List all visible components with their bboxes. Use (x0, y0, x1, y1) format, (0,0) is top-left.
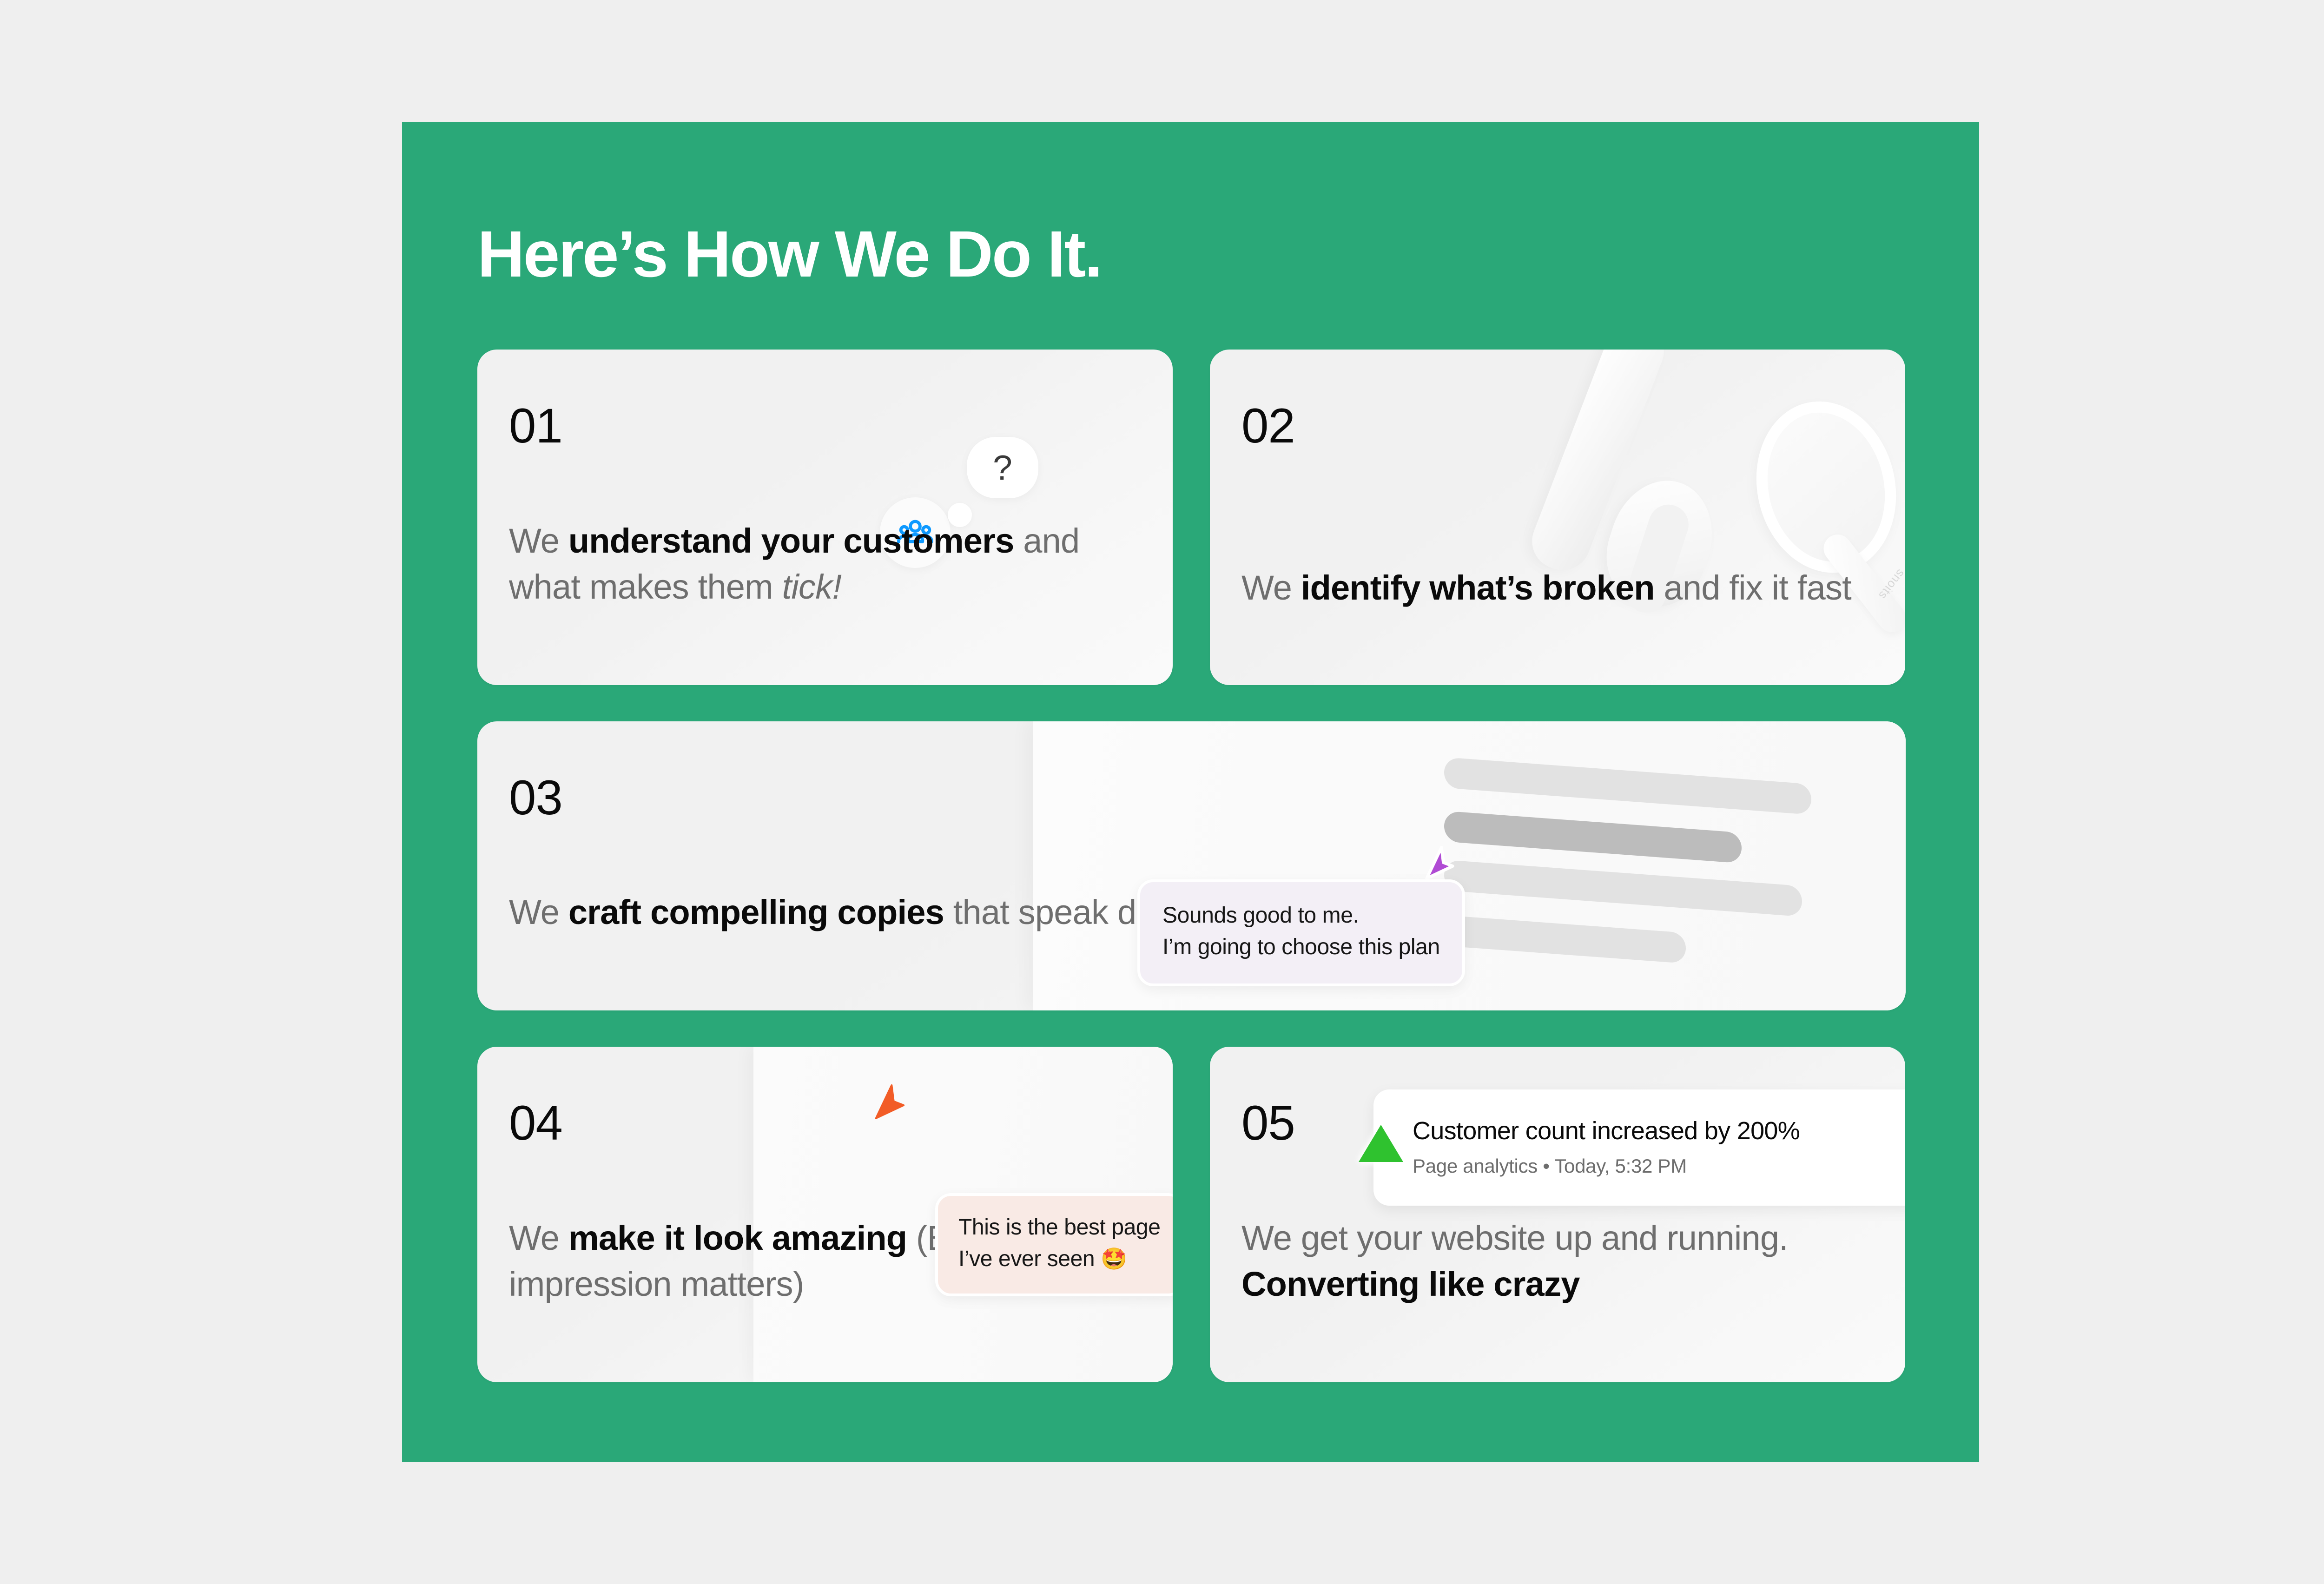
copy-tail: and fix it fast (1655, 568, 1851, 607)
card-copy-01: We understand your customers and what ma… (509, 518, 1147, 610)
step-card-03[interactable]: Sounds good to me. I’m going to choose t… (477, 721, 1906, 1010)
tooltip-line-2: I’m going to choose this plan (1162, 931, 1440, 963)
orange-cursor-icon (872, 1078, 910, 1126)
green-panel: Here’s How We Do It. 01 (402, 122, 1979, 1462)
copy-lead: We (509, 521, 568, 560)
wrench-and-magnifier-illustration: snoits (1210, 350, 1905, 685)
copy-bold: understand your customers (568, 521, 1014, 560)
visitor-comment-tooltip: This is the best page I’ve ever seen 🤩 (935, 1193, 1173, 1296)
tooltip-line-1: This is the best page (958, 1212, 1161, 1243)
step-card-01[interactable]: 01 ? (477, 350, 1173, 685)
card-number-02: 02 (1241, 402, 1295, 450)
tooltip-line-2: I’ve ever seen 🤩 (958, 1243, 1161, 1275)
analytics-notification-card[interactable]: Customer count increased by 200% Page an… (1373, 1089, 1905, 1206)
copy-lead: We (1241, 568, 1301, 607)
step-card-04[interactable]: This is the best page I’ve ever seen 🤩 0… (477, 1047, 1173, 1382)
copy-bold: make it look amazing (568, 1219, 907, 1257)
cards-grid: 01 ? (477, 350, 1906, 1382)
green-triangle-up-icon (1359, 1125, 1403, 1162)
card-number-01: 01 (509, 402, 562, 450)
star-struck-emoji: 🤩 (1101, 1247, 1127, 1271)
step-card-05[interactable]: 05 Customer count increased by 200% Page… (1210, 1047, 1905, 1382)
cards-row-2: Sounds good to me. I’m going to choose t… (477, 721, 1906, 1010)
step-card-02[interactable]: 02 snoits We identify what’s broken and … (1210, 350, 1905, 685)
copy-lead: We (509, 893, 568, 931)
notification-title: Customer count increased by 200% (1413, 1117, 1800, 1145)
card-number-03: 03 (509, 773, 562, 822)
copy-lead: We get your website up and running. (1241, 1219, 1788, 1257)
copy-bold: identify what’s broken (1301, 568, 1655, 607)
copy-bold: craft compelling copies (568, 893, 944, 931)
copy-bold: Converting like crazy (1241, 1265, 1580, 1303)
question-mark-glyph: ? (993, 450, 1012, 485)
notification-body: Customer count increased by 200% Page an… (1413, 1117, 1800, 1177)
cards-row-3: This is the best page I’ve ever seen 🤩 0… (477, 1047, 1906, 1382)
card-copy-02: We identify what’s broken and fix it fas… (1241, 565, 1879, 611)
card-number-05: 05 (1241, 1099, 1295, 1148)
card-number-04: 04 (509, 1099, 562, 1148)
tooltip-line-2-text: I’ve ever seen (958, 1247, 1101, 1271)
card-copy-05: We get your website up and running. Conv… (1241, 1215, 1879, 1307)
cards-row-1: 01 ? (477, 350, 1906, 685)
copy-lead: We (509, 1219, 568, 1257)
copy-italic: tick! (782, 568, 842, 606)
tooltip-line-1: Sounds good to me. (1162, 900, 1440, 931)
screenshot-stage: Here’s How We Do It. 01 (0, 0, 2324, 1584)
question-thought-bubble: ? (967, 437, 1038, 498)
page-title: Here’s How We Do It. (477, 221, 1101, 287)
viewer-comment-tooltip: Sounds good to me. I’m going to choose t… (1137, 879, 1465, 986)
notification-subtitle: Page analytics • Today, 5:32 PM (1413, 1155, 1800, 1177)
magnifier-lens-ring (1740, 387, 1905, 587)
